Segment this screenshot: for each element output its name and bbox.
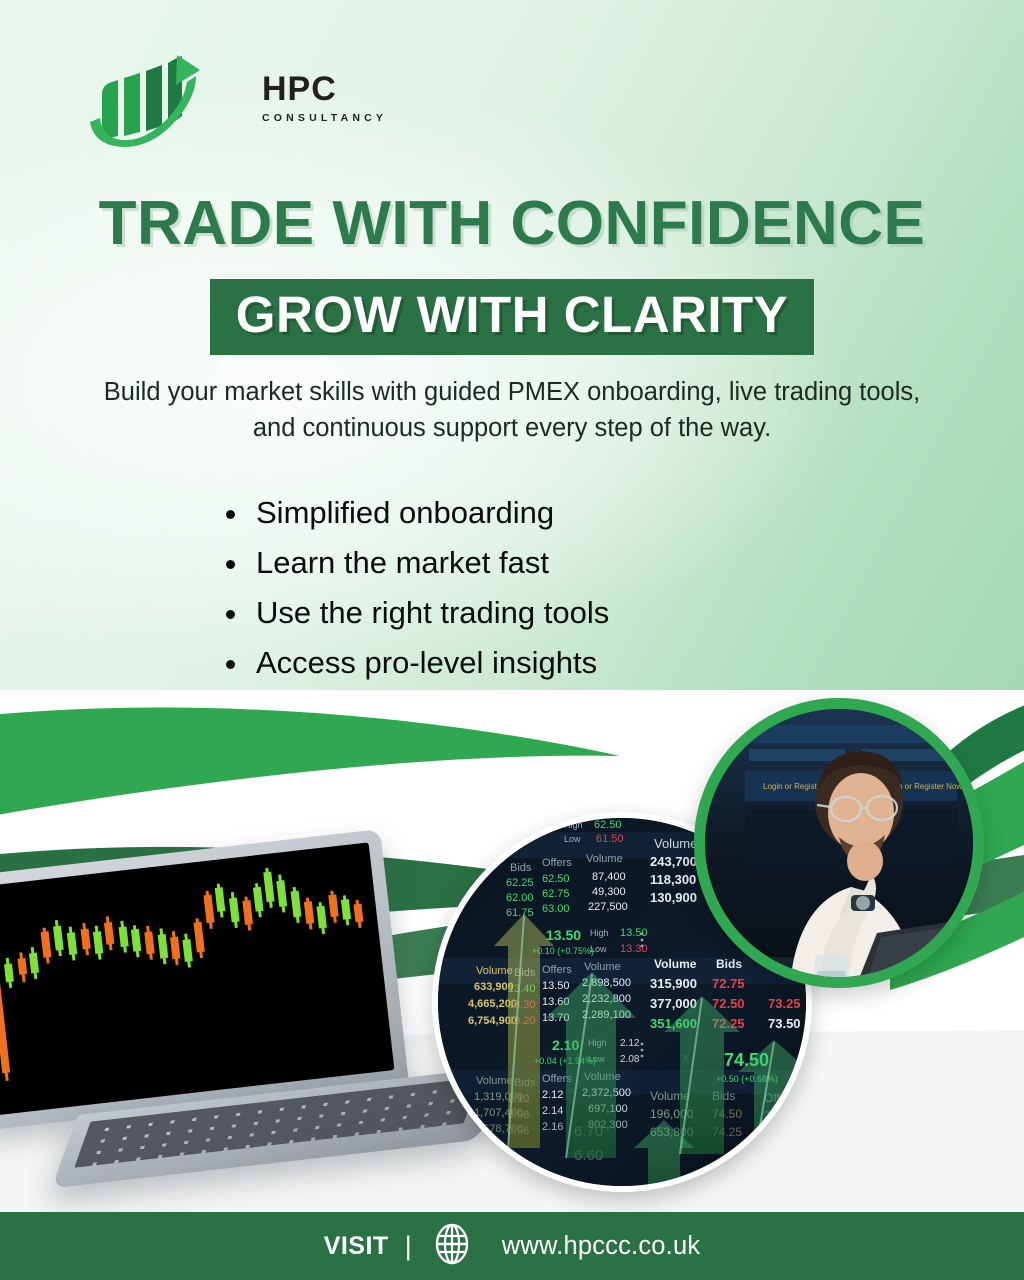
svg-text:Bids: Bids [716,957,742,971]
laptop-illustration [0,824,457,1205]
body-paragraph: Build your market skills with guided PME… [80,374,944,446]
footer-bar: VISIT | www.hpccc.co.uk [0,1212,1024,1280]
svg-text:62.50: 62.50 [594,819,622,831]
svg-text:73.50: 73.50 [768,1016,801,1031]
svg-text:2.12: 2.12 [620,1038,640,1049]
svg-text:High: High [590,928,609,938]
svg-text:73.25: 73.25 [768,996,801,1011]
footer-separator: | [405,1231,412,1262]
svg-text:Volume: Volume [654,836,697,851]
globe-icon [430,1222,474,1271]
svg-text:62.50: 62.50 [542,873,570,885]
svg-text:+0.10 (+0.75%): +0.10 (+0.75%) [532,946,594,956]
svg-text:Volume: Volume [476,1075,513,1087]
svg-text:Volume: Volume [654,957,697,971]
list-item: Use the right trading tools [222,588,623,638]
svg-text:2.08: 2.08 [620,1054,640,1065]
website-url[interactable]: www.hpccc.co.uk [502,1232,701,1261]
svg-text:315,900: 315,900 [650,976,697,991]
svg-text:13.50: 13.50 [546,927,581,943]
trader-photo-circle: Login or Register Now Login or Register … [694,698,984,988]
svg-text:13.50: 13.50 [620,927,648,939]
logo-name: HPC [262,72,382,106]
svg-text:63.00: 63.00 [542,903,570,915]
brand-logo[interactable]: HPC CONSULTANCY [72,52,332,156]
svg-text:2.14: 2.14 [542,1105,563,1117]
svg-text:2.12: 2.12 [542,1089,563,1101]
svg-text:High: High [564,820,583,830]
svg-text:2.16: 2.16 [542,1121,563,1133]
subheadline-container: GROW WITH CLARITY [0,279,1024,355]
svg-text:130,900: 130,900 [650,890,697,905]
list-item: Simplified onboarding [222,488,623,538]
svg-text:61.50: 61.50 [596,833,624,845]
list-item: Access pro-level insights [222,638,623,688]
svg-text:62.75: 62.75 [542,888,570,900]
svg-text:87,400: 87,400 [592,871,626,883]
svg-text:Volume: Volume [584,961,621,973]
headline: TRADE WITH CONFIDENCE [0,188,1024,259]
visit-label: VISIT [324,1232,389,1261]
svg-text:62.00: 62.00 [506,892,534,904]
svg-text:13.30: 13.30 [620,943,648,955]
svg-text:243,700: 243,700 [650,854,697,869]
svg-text:61.75: 61.75 [506,907,534,919]
imagery-section: 62.25 High 62.50 +0.50 (+0.81%) Low 61.5… [0,690,1024,1212]
subheadline: GROW WITH CLARITY [210,279,814,355]
list-item: Learn the market fast [222,538,623,588]
svg-text:49,300: 49,300 [592,886,626,898]
svg-text:Volume: Volume [586,853,623,865]
svg-text:Low: Low [590,944,607,954]
svg-text:Bids: Bids [510,862,532,874]
svg-text:Low: Low [564,834,581,844]
svg-text:118,300: 118,300 [650,872,696,887]
svg-text:13.50: 13.50 [542,980,570,992]
poster-root: HPC CONSULTANCY TRADE WITH CONFIDENCE GR… [0,0,1024,1280]
svg-text:227,500: 227,500 [588,901,628,913]
svg-text:Offers: Offers [542,964,572,976]
svg-text:Offers: Offers [542,857,572,869]
logo-wordmark: HPC CONSULTANCY [262,72,382,124]
bar-chart-growth-arrow-icon [72,52,200,152]
svg-text:72.75: 72.75 [712,976,745,991]
svg-text:62.25: 62.25 [506,877,534,889]
logo-tagline: CONSULTANCY [262,112,382,124]
svg-text:72.50: 72.50 [712,996,745,1011]
laptop-screen-chart [0,842,394,1115]
svg-text:Volume: Volume [476,965,513,977]
